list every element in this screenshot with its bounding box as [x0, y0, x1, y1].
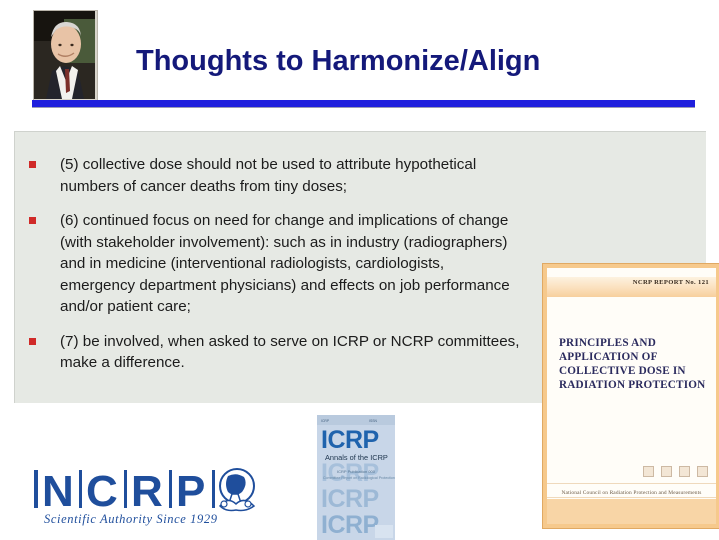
ncrp-logo: N C R P Scientific Authority Since 1929 — [32, 466, 264, 528]
content-panel: (5) collective dose should not be used t… — [14, 131, 706, 403]
square-bullet-icon — [29, 161, 36, 168]
presentation-slide: Thoughts to Harmonize/Align (5) collecti… — [0, 0, 719, 540]
book-cover-decorative-glyphs — [643, 466, 708, 477]
page-title: Thoughts to Harmonize/Align — [136, 43, 616, 79]
svg-text:ICRP: ICRP — [321, 426, 379, 454]
ncrp-logo-graphic: N C R P Scientific Authority Since 1929 — [32, 466, 264, 528]
presenter-portrait-photo — [33, 10, 98, 102]
portrait-image — [34, 11, 95, 99]
glyph-box-icon — [661, 466, 672, 477]
svg-text:R: R — [131, 467, 163, 516]
bullet-text: (7) be involved, when asked to serve on … — [60, 331, 520, 374]
icrp-logo: ICRP ISSN ICRP Annals of the ICRP ICRP I… — [317, 415, 395, 540]
svg-text:P: P — [176, 467, 205, 516]
glyph-box-icon — [679, 466, 690, 477]
bullet-text: (5) collective dose should not be used t… — [60, 154, 520, 197]
svg-text:C: C — [86, 467, 118, 516]
bullet-text: (6) continued focus on need for change a… — [60, 210, 520, 318]
icrp-publication-cover-graphic: ICRP ISSN ICRP Annals of the ICRP ICRP I… — [317, 415, 395, 540]
book-cover-footer-text: National Council on Radiation Protection… — [547, 490, 716, 496]
svg-text:ICRP Publication 000: ICRP Publication 000 — [337, 469, 376, 474]
svg-text:N: N — [42, 467, 75, 516]
list-item: (7) be involved, when asked to serve on … — [29, 331, 520, 374]
square-bullet-icon — [29, 217, 36, 224]
globe-emblem-icon — [220, 469, 254, 511]
svg-text:ICRP: ICRP — [321, 485, 379, 513]
book-cover-bottom-band — [547, 499, 716, 524]
bullet-list: (5) collective dose should not be used t… — [15, 132, 528, 404]
svg-text:Committee Report on Radiologic: Committee Report on Radiological Protect… — [323, 476, 395, 480]
list-item: (6) continued focus on need for change a… — [29, 210, 520, 318]
ncrp-report-cover-image: NCRP REPORT No. 121 PRINCIPLES AND APPLI… — [542, 263, 719, 529]
svg-text:ICRP: ICRP — [321, 419, 330, 423]
list-item: (5) collective dose should not be used t… — [29, 154, 520, 197]
svg-text:ISSN: ISSN — [369, 419, 377, 423]
title-underline-bar — [32, 100, 695, 107]
square-bullet-icon — [29, 338, 36, 345]
glyph-box-icon — [643, 466, 654, 477]
book-cover-inner: NCRP REPORT No. 121 PRINCIPLES AND APPLI… — [547, 268, 716, 524]
glyph-box-icon — [697, 466, 708, 477]
book-report-number: NCRP REPORT No. 121 — [633, 279, 709, 286]
book-cover-title: PRINCIPLES AND APPLICATION OF COLLECTIVE… — [559, 336, 711, 392]
ncrp-tagline: Scientific Authority Since 1929 — [44, 512, 218, 526]
svg-text:ICRP: ICRP — [321, 511, 379, 539]
